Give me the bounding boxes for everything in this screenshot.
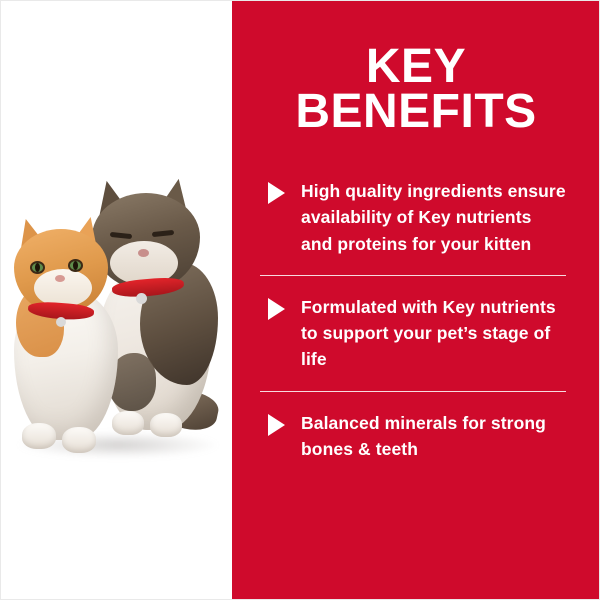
play-arrow-icon [268, 298, 285, 320]
play-arrow-icon [268, 182, 285, 204]
page-title: KEY BENEFITS [232, 0, 600, 134]
tabby-kitten-nose [138, 249, 149, 257]
benefit-text: High quality ingredients ensure availabi… [301, 178, 566, 257]
orange-kitten-left-pupil [35, 263, 40, 272]
kitten-paw [150, 413, 182, 437]
kitten-paw [62, 427, 96, 453]
orange-kitten-nose [55, 275, 65, 282]
orange-kitten-muzzle [34, 269, 92, 307]
kitten-paw [112, 411, 144, 435]
title-line-2: BENEFITS [260, 89, 572, 134]
benefits-panel: KEY BENEFITS High quality ingredients en… [232, 0, 600, 600]
key-benefits-promo-card: KEY BENEFITS High quality ingredients en… [0, 0, 600, 600]
list-item: Balanced minerals for strong bones & tee… [260, 391, 566, 481]
benefit-text: Formulated with Key nutrients to support… [301, 294, 566, 373]
orange-kitten-right-pupil [73, 261, 78, 270]
kitten-paw [22, 423, 56, 449]
kittens-photo [0, 0, 232, 600]
kittens-illustration [0, 175, 232, 450]
list-item: High quality ingredients ensure availabi… [260, 160, 566, 275]
play-arrow-icon [268, 414, 285, 436]
list-item: Formulated with Key nutrients to support… [260, 275, 566, 391]
benefit-text: Balanced minerals for strong bones & tee… [301, 410, 566, 463]
tabby-kitten-collar-tag [136, 293, 147, 304]
benefit-list: High quality ingredients ensure availabi… [232, 134, 600, 480]
orange-kitten-collar-tag [56, 317, 66, 327]
